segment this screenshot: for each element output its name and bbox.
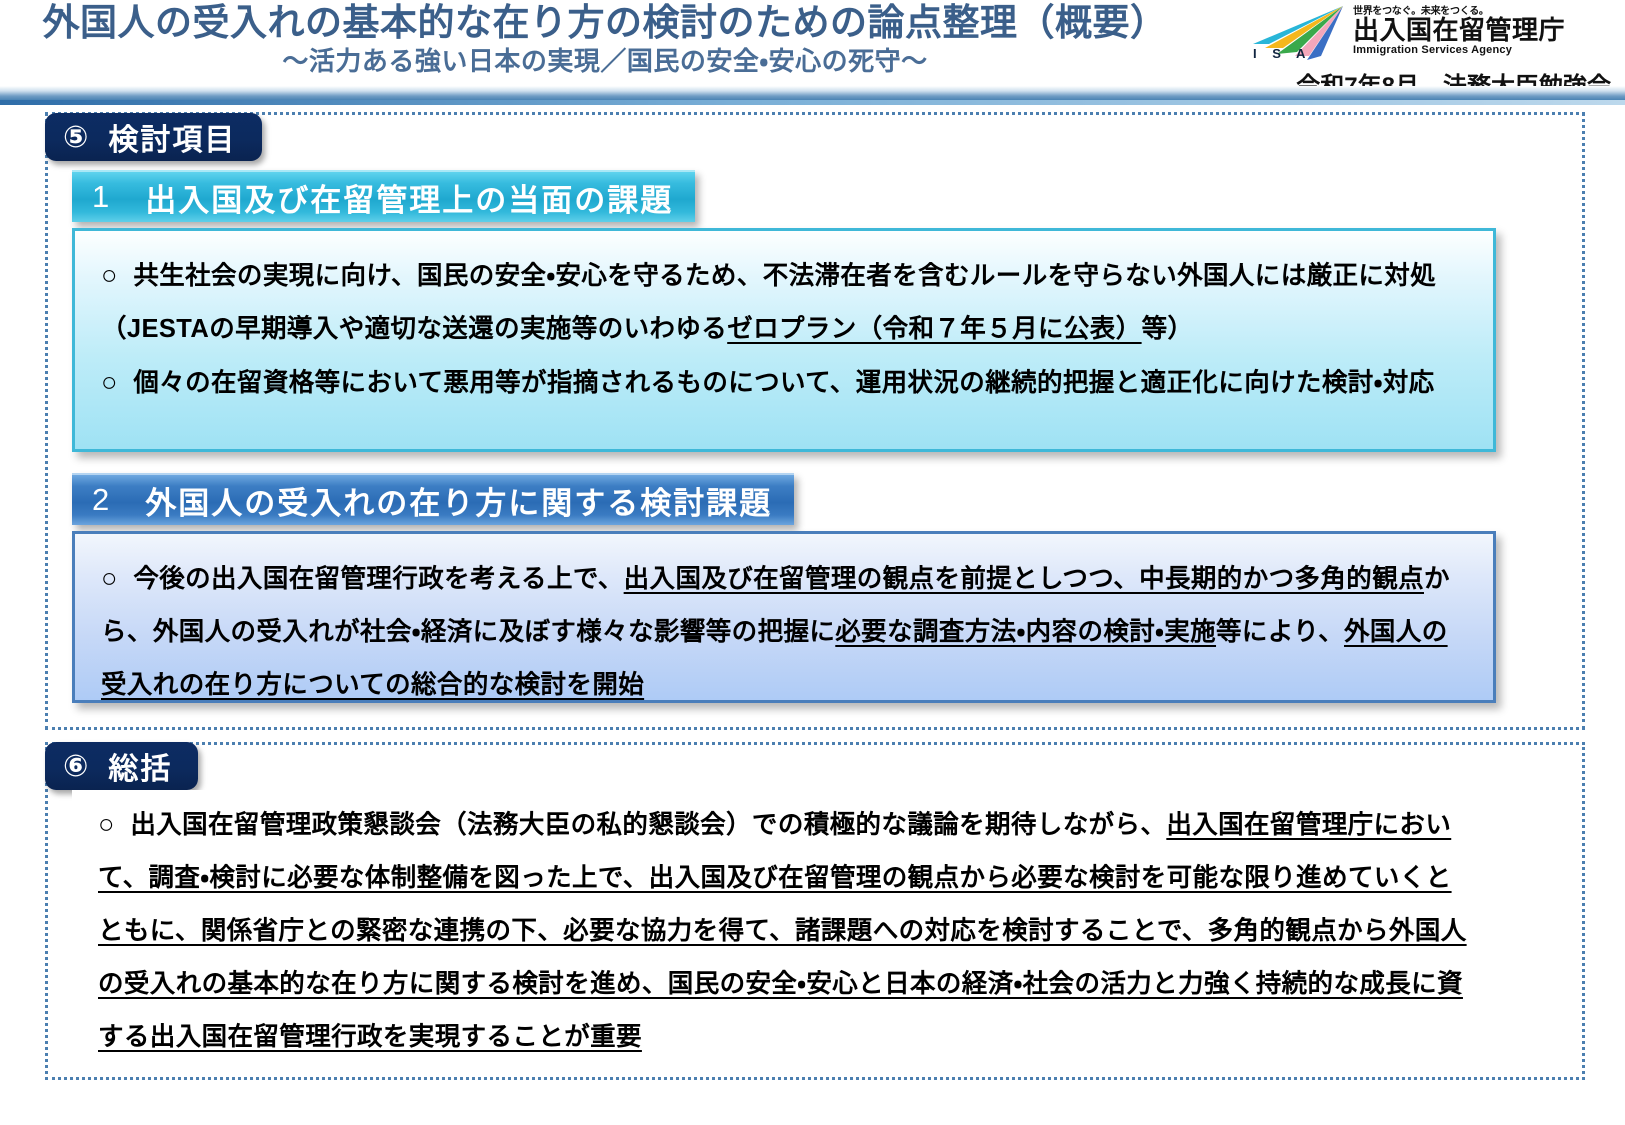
bullet-marker: ○ xyxy=(101,367,117,397)
header-divider xyxy=(0,86,1625,100)
subsection-title-1: 出入国及び在留管理上の当面の課題 xyxy=(145,175,673,220)
section-number-6: ⑥ xyxy=(63,749,90,784)
bullet-marker: ○ xyxy=(98,809,114,839)
bullet-text: 個々の在留資格等において悪用等が指摘されるものについて、運用状況の継続的把握と適… xyxy=(133,369,1434,397)
subsection-title-2: 外国人の受入れの在り方に関する検討課題 xyxy=(145,478,772,523)
isa-letters: I S A xyxy=(1253,46,1311,61)
subsection-header-1: 1 出入国及び在留管理上の当面の課題 xyxy=(72,170,695,222)
bullet-marker: ○ xyxy=(101,260,117,290)
section-number-5: ⑤ xyxy=(63,120,90,155)
section-label-6: 総括 xyxy=(108,744,172,788)
bullet-marker: ○ xyxy=(101,563,117,593)
bullet-text: 等） xyxy=(1142,315,1194,343)
bullet-item: ○出入国在留管理政策懇談会（法務大臣の私的懇談会）での積極的な議論を期待しながら… xyxy=(98,798,1470,1064)
section-badge-5: ⑤ 検討項目 xyxy=(45,113,262,161)
bullet-text: 今後の出入国在留管理行政を考える上で、 xyxy=(133,565,623,593)
section-label-5: 検討項目 xyxy=(108,115,236,159)
agency-name-en: Immigration Services Agency xyxy=(1353,44,1565,56)
bullet-text-underlined: 必要な調査方法・内容の検討・実施 xyxy=(835,618,1216,646)
page-title: 外国人の受入れの基本的な在り方の検討のための論点整理（概要） xyxy=(0,2,1210,43)
page-header: 外国人の受入れの基本的な在り方の検討のための論点整理（概要） 〜活力ある強い日本… xyxy=(0,0,1625,100)
bullet-text: 出入国在留管理政策懇談会（法務大臣の私的懇談会）での積極的な議論を期待しながら、 xyxy=(130,811,1166,839)
subsection-number-1: 1 xyxy=(92,179,111,215)
content-box-2: ○今後の出入国在留管理行政を考える上で、出入国及び在留管理の観点を前提としつつ、… xyxy=(72,531,1496,703)
bullet-text: 等により、 xyxy=(1216,618,1344,646)
content-box-6: ○出入国在留管理政策懇談会（法務大臣の私的懇談会）での積極的な議論を期待しながら… xyxy=(72,790,1496,1060)
bullet-item: ○共生社会の実現に向け、国民の安全・安心を守るため、不法滞在者を含むルールを守ら… xyxy=(101,249,1467,356)
agency-logo-block: I S A 世界をつなぐ。未来をつくる。 出入国在留管理庁 Immigratio… xyxy=(1231,2,1611,98)
subsection-header-2: 2 外国人の受入れの在り方に関する検討課題 xyxy=(72,473,794,525)
bullet-text-underlined: 出入国及び在留管理の観点を前提としつつ、中長期的かつ多角的観点 xyxy=(624,565,1424,593)
header-divider-accent xyxy=(0,100,1625,105)
agency-name-ja: 出入国在留管理庁 xyxy=(1353,17,1565,44)
title-block: 外国人の受入れの基本的な在り方の検討のための論点整理（概要） 〜活力ある強い日本… xyxy=(0,2,1210,77)
bullet-text-underlined: 出入国在留管理庁において、調査・検討に必要な体制整備を図った上で、出入国及び在留… xyxy=(98,811,1467,1051)
content-box-1: ○共生社会の実現に向け、国民の安全・安心を守るため、不法滞在者を含むルールを守ら… xyxy=(72,228,1496,452)
section-badge-6: ⑥ 総括 xyxy=(45,742,198,790)
bullet-item: ○今後の出入国在留管理行政を考える上で、出入国及び在留管理の観点を前提としつつ、… xyxy=(101,552,1467,712)
subsection-number-2: 2 xyxy=(92,482,111,518)
bullet-text-underlined: ゼロプラン（令和７年５月に公表） xyxy=(727,315,1141,343)
bullet-item: ○個々の在留資格等において悪用等が指摘されるものについて、運用状況の継続的把握と… xyxy=(101,356,1467,410)
agency-name-group: 世界をつなぐ。未来をつくる。 出入国在留管理庁 Immigration Serv… xyxy=(1353,2,1565,56)
page-subtitle: 〜活力ある強い日本の実現／国民の安全・安心の死守〜 xyxy=(0,47,1210,77)
